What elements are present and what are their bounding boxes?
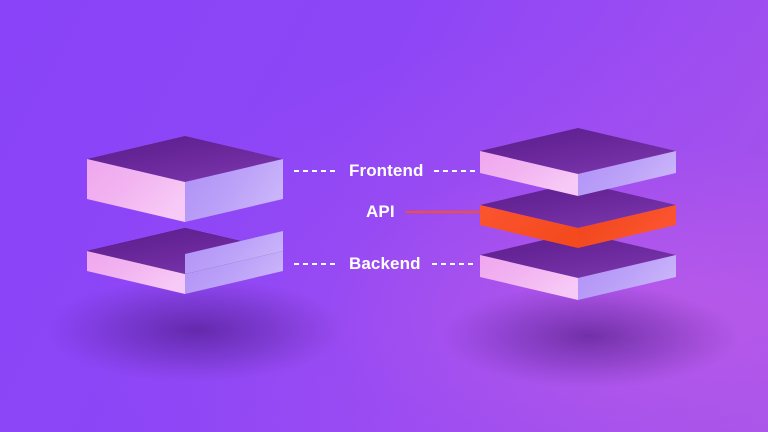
label-row-api: API [366, 202, 481, 222]
api-label: API [366, 202, 395, 222]
frontend-label: Frontend [349, 161, 423, 181]
backend-label: Backend [349, 254, 421, 274]
frontend-connector-right-dashed [434, 170, 478, 172]
label-row-backend: Backend [294, 254, 476, 274]
backend-connector-right-dashed [432, 263, 476, 265]
frontend-connector-left-dashed [294, 170, 338, 172]
diagram-canvas: Frontend API Backend [0, 0, 768, 432]
label-row-frontend: Frontend [294, 161, 478, 181]
layer-labels: Frontend API Backend [0, 0, 768, 432]
backend-connector-left-dashed [294, 263, 338, 265]
api-connector-solid [406, 211, 481, 213]
